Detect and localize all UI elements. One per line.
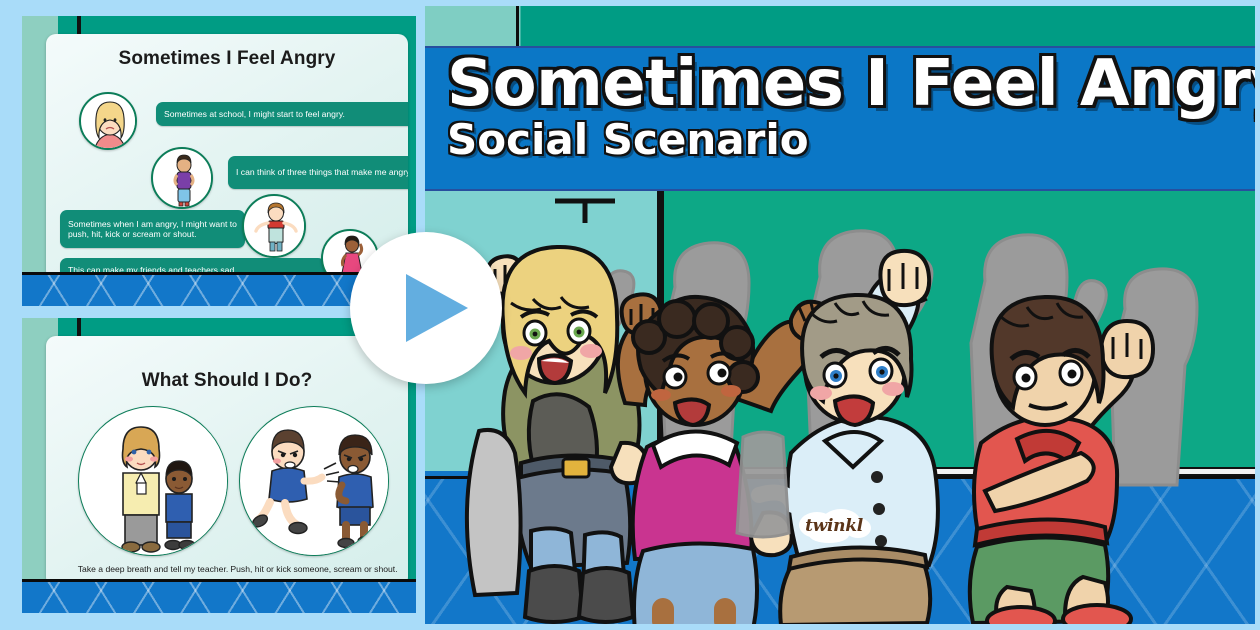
- slide-1-bar-2-text: I can think of three things that make me…: [236, 167, 408, 177]
- slide-1-title: Sometimes I Feel Angry: [46, 48, 408, 70]
- screenshot-root: Sometimes I Feel Angry Sometimes at scho…: [0, 0, 1260, 630]
- twinkl-cloud-logo: twinkl: [795, 509, 873, 543]
- slide-1-portrait-1: [79, 92, 137, 150]
- slide-2-option-2-caption: Push, hit or kick someone, scream or sho…: [229, 564, 399, 576]
- slide-1-bar-1: Sometimes at school, I might start to fe…: [156, 102, 408, 126]
- slide-1-bar-3-text: Sometimes when I am angry, I might want …: [68, 219, 237, 240]
- page-subtitle: Social Scenario: [447, 119, 1235, 161]
- slide-2-option-2-circle: [239, 406, 389, 556]
- slide-1-portrait-2: [151, 147, 213, 209]
- main-top-teal-strip: [425, 6, 1255, 46]
- twinkl-cloud-text: twinkl: [795, 509, 873, 543]
- slide-thumbnail-1[interactable]: Sometimes I Feel Angry Sometimes at scho…: [22, 16, 416, 306]
- slide-1-bar-2: I can think of three things that make me…: [228, 156, 408, 189]
- scene-characters: [425, 191, 1255, 624]
- slide-1-card: Sometimes I Feel Angry Sometimes at scho…: [46, 34, 408, 280]
- slide-2-option-1-caption: Take a deep breath and tell my teacher.: [68, 564, 238, 576]
- page-title: Sometimes I Feel Angry: [447, 52, 1235, 117]
- play-button[interactable]: [350, 232, 502, 384]
- slide-1-portrait-3: [242, 194, 306, 258]
- slide-thumbnail-2[interactable]: What Should I Do?: [22, 318, 416, 613]
- main-illustration: twinkl: [425, 191, 1255, 624]
- slide-2-title: What Should I Do?: [46, 370, 408, 392]
- play-triangle-icon: [406, 274, 468, 342]
- slide-1-bar-3: Sometimes when I am angry, I might want …: [60, 210, 245, 248]
- slide-2-option-1-circle: [78, 406, 228, 556]
- main-title-band: Sometimes I Feel Angry Social Scenario: [425, 46, 1255, 191]
- main-top-tick: [516, 6, 519, 46]
- main-preview-panel[interactable]: Sometimes I Feel Angry Social Scenario: [425, 6, 1255, 624]
- slide-2-card: What Should I Do?: [46, 336, 408, 587]
- slide-2-blue-floor: [22, 579, 416, 613]
- slide-1-bar-1-text: Sometimes at school, I might start to fe…: [164, 109, 408, 119]
- main-top-teal-dark: [425, 6, 1255, 46]
